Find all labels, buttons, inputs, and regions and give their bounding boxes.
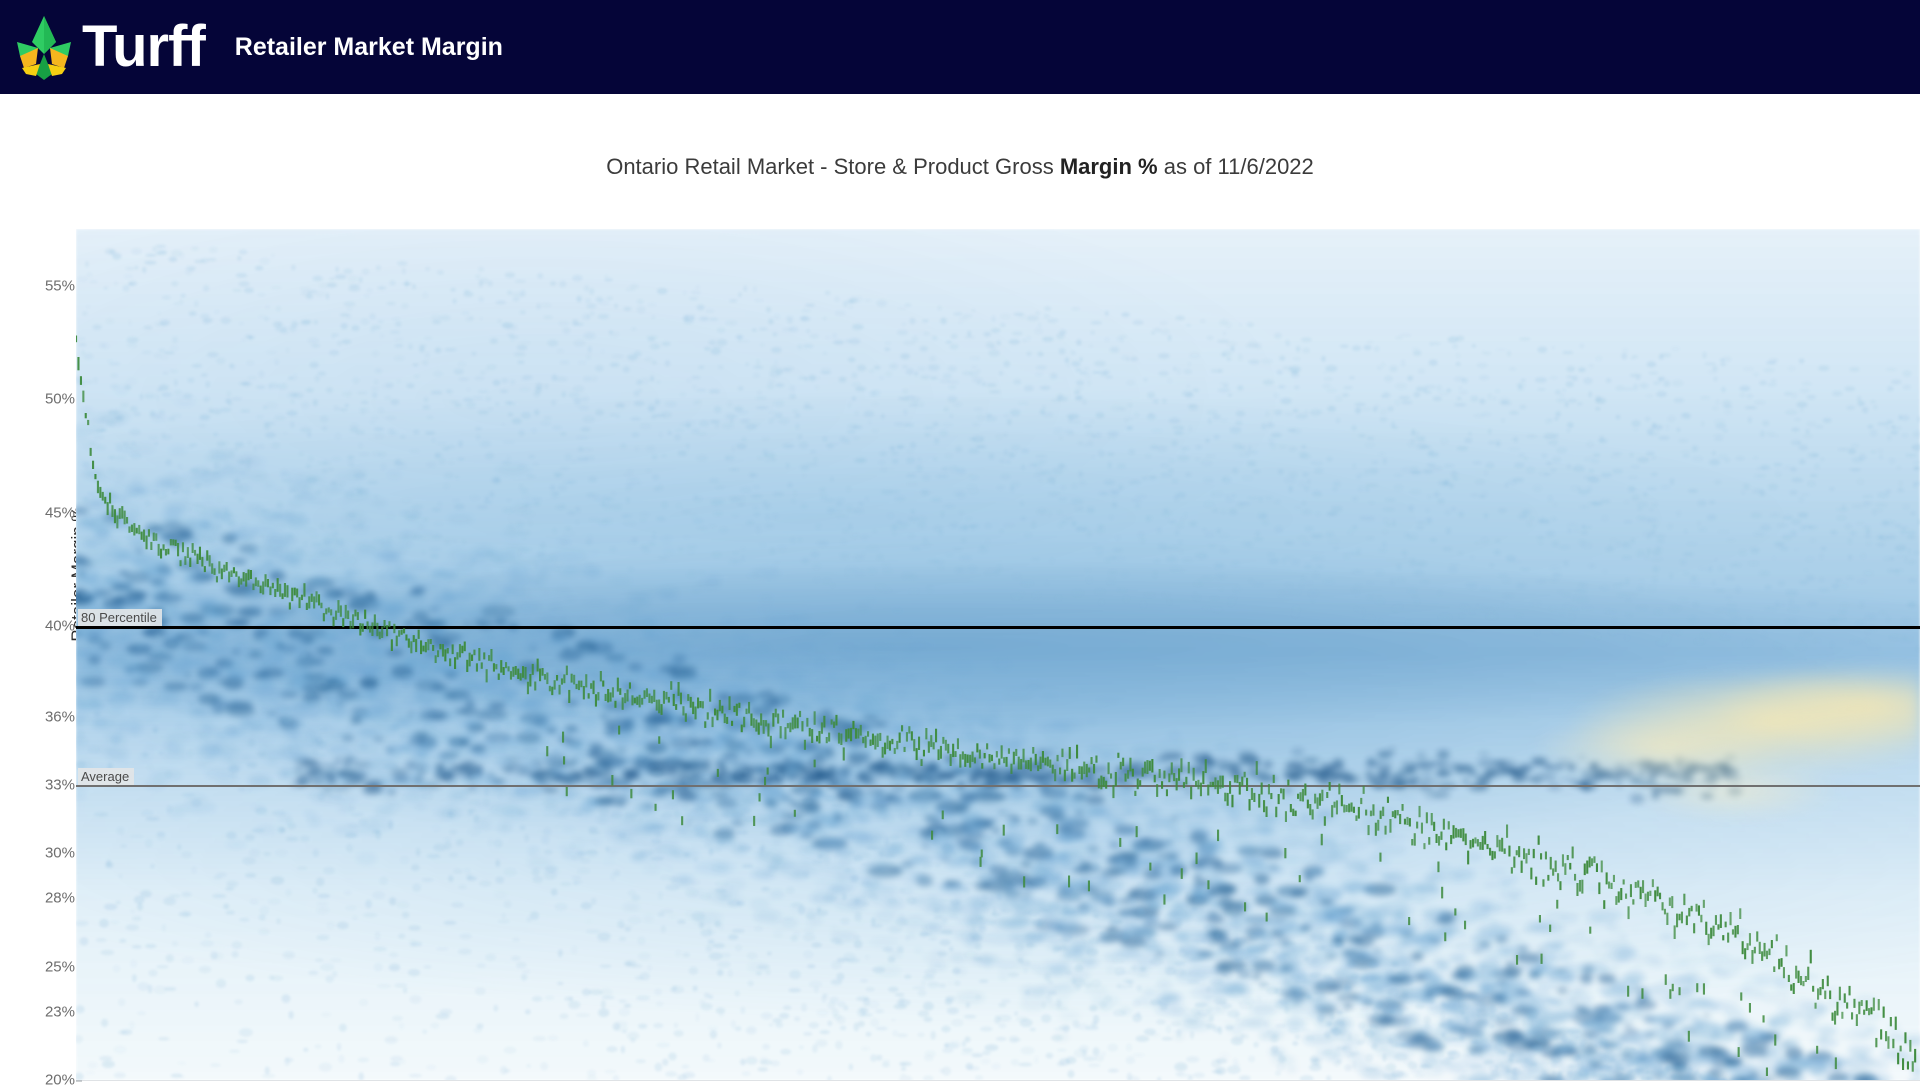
y-axis-tick-label: 23% <box>0 1003 75 1020</box>
y-axis-tick-label: 30% <box>0 845 75 862</box>
plot-area[interactable]: 80 Percentile Average <box>76 229 1920 1080</box>
chart-page: Ontario Retail Market - Store & Product … <box>0 94 1920 1080</box>
y-axis-tick-label: 50% <box>0 391 75 408</box>
plot-wrap: Retailer Margin % 55%50%45%40%36%33%30%2… <box>0 94 1920 1080</box>
brand-wordmark: Turff <box>82 18 205 76</box>
y-axis-tick-label: 36% <box>0 708 75 725</box>
store-margin-trend-marks <box>76 229 1920 1080</box>
y-axis-tick-label: 20% <box>0 1072 75 1089</box>
app-header: Turff Retailer Market Margin <box>0 0 1920 94</box>
page-title: Retailer Market Margin <box>235 33 503 62</box>
y-axis-tick-label: 40% <box>0 618 75 635</box>
y-axis-tick-label: 33% <box>0 776 75 793</box>
y-axis-tick-label: 45% <box>0 504 75 521</box>
cannabis-leaf-icon <box>12 12 76 82</box>
y-axis-tick-label: 55% <box>0 277 75 294</box>
y-axis-tick-label: 25% <box>0 958 75 975</box>
gridline <box>76 1080 1920 1081</box>
y-axis-tick-label: 28% <box>0 890 75 907</box>
